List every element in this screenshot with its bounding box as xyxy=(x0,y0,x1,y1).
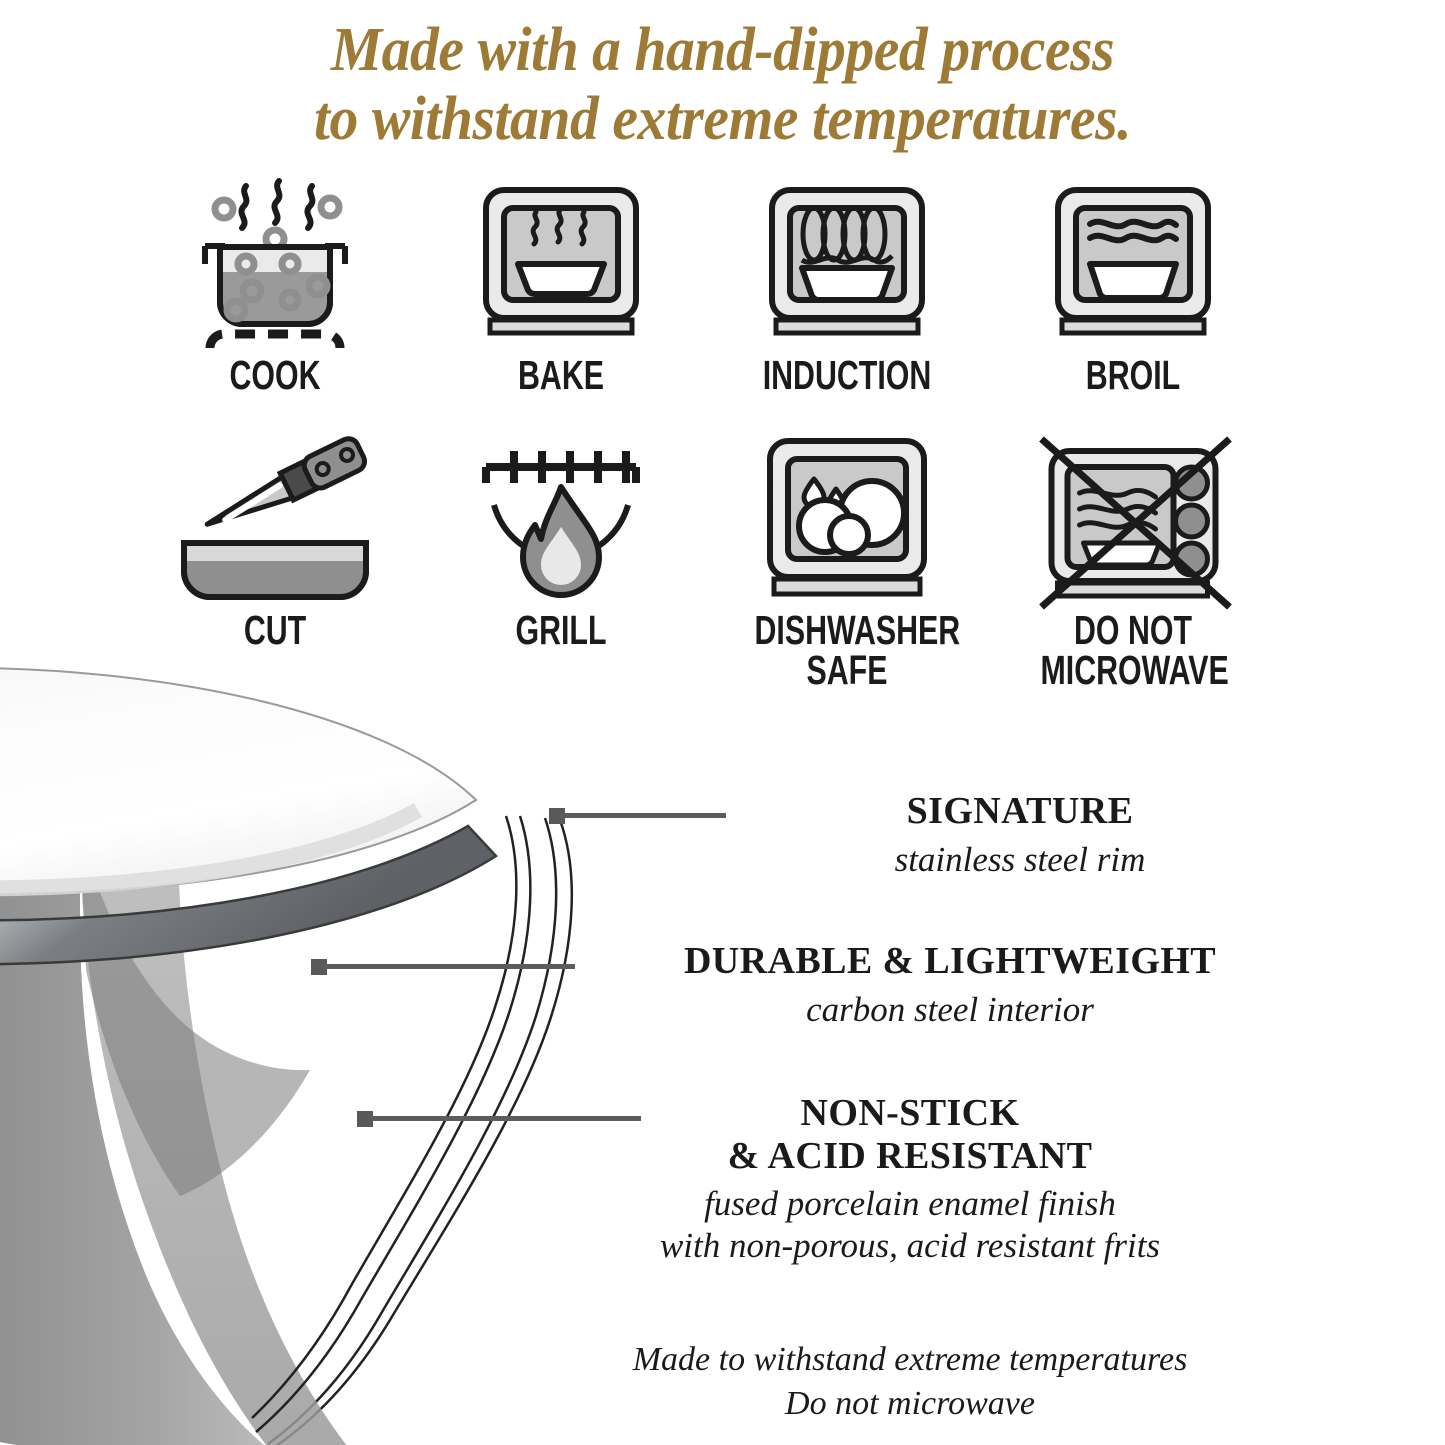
knife-dish-icon xyxy=(150,431,400,611)
callout-durable: DURABLE & LIGHTWEIGHT carbon steel inter… xyxy=(580,940,1320,1031)
microwave-crossed-icon xyxy=(1008,431,1258,611)
icon-label-bake: BAKE xyxy=(469,356,654,396)
icon-cell-grill: GRILL xyxy=(436,431,686,651)
callout-sub-non-stick: fused porcelain enamel finish with non-p… xyxy=(540,1183,1280,1267)
callout-sub-durable: carbon steel interior xyxy=(580,989,1320,1031)
icon-label-induction: INDUCTION xyxy=(755,356,940,396)
icon-cell-cut: CUT xyxy=(150,431,400,651)
leader-line-durable xyxy=(322,964,575,969)
icon-label-broil: BROIL xyxy=(1041,356,1226,396)
pot-cutaway-illustration xyxy=(0,620,650,1445)
page-headline: Made with a hand-dipped process to withs… xyxy=(51,16,1395,155)
leader-line-signature xyxy=(560,813,726,818)
icon-label-do-not-microwave: DO NOT MICROWAVE xyxy=(1041,611,1226,691)
footer-note: Made to withstand extreme temperatures D… xyxy=(540,1338,1280,1425)
grill-flame-icon xyxy=(436,431,686,611)
callout-sub-signature: stainless steel rim xyxy=(720,839,1320,881)
icon-cell-induction: INDUCTION xyxy=(722,176,972,396)
dishwasher-icon xyxy=(722,431,972,611)
capability-icon-grid: COOK BAKE xyxy=(150,176,1315,686)
headline-line-1: Made with a hand-dipped process xyxy=(331,16,1114,84)
callout-title-non-stick: NON-STICK & ACID RESISTANT xyxy=(540,1092,1280,1177)
pot-boiling-icon xyxy=(150,176,400,356)
icon-cell-do-not-microwave: DO NOT MICROWAVE xyxy=(1008,431,1258,691)
headline-line-2: to withstand extreme temperatures. xyxy=(51,85,1395,154)
icon-cell-bake: BAKE xyxy=(436,176,686,396)
callout-title-signature: SIGNATURE xyxy=(720,790,1320,833)
callout-non-stick: NON-STICK & ACID RESISTANT fused porcela… xyxy=(540,1092,1280,1267)
icon-cell-cook: COOK xyxy=(150,176,400,396)
oven-bake-icon xyxy=(436,176,686,356)
callout-title-durable: DURABLE & LIGHTWEIGHT xyxy=(580,940,1320,983)
icon-label-dishwasher-safe: DISHWASHER SAFE xyxy=(755,611,940,691)
icon-label-cook: COOK xyxy=(183,356,368,396)
callout-signature: SIGNATURE stainless steel rim xyxy=(720,790,1320,881)
icon-cell-broil: BROIL xyxy=(1008,176,1258,396)
product-infographic: Made with a hand-dipped process to withs… xyxy=(0,0,1445,1445)
icon-cell-dishwasher-safe: DISHWASHER SAFE xyxy=(722,431,972,691)
oven-broil-icon xyxy=(1008,176,1258,356)
oven-induction-icon xyxy=(722,176,972,356)
